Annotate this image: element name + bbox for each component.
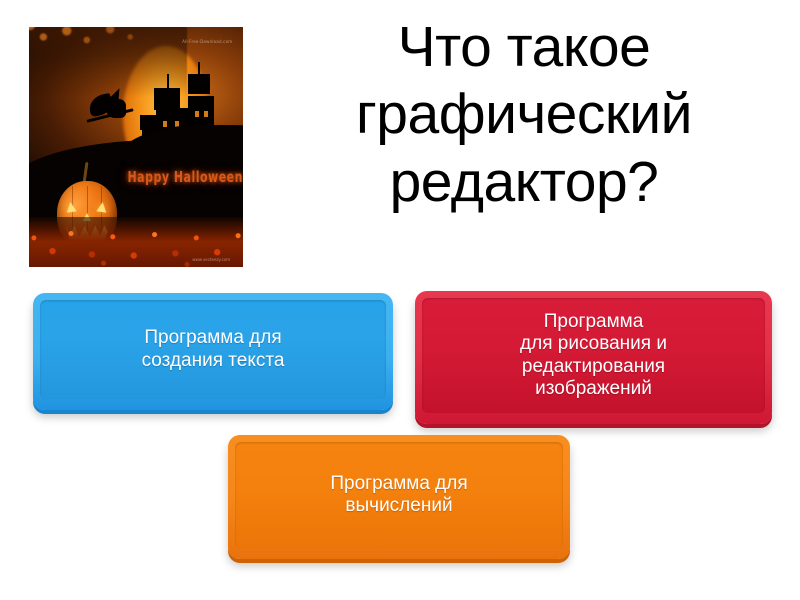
castle-spire	[198, 62, 200, 78]
answer-option-3[interactable]: Программа для вычислений	[228, 435, 570, 559]
pumpkin-eye	[66, 201, 77, 212]
castle-spire	[167, 74, 169, 90]
quiz-slide: Happy Halloween All-Free-Download.com ww…	[0, 0, 800, 600]
question-area: Happy Halloween All-Free-Download.com ww…	[0, 0, 800, 285]
image-watermark-top: All-Free-Download.com	[182, 39, 232, 44]
lit-window	[204, 111, 208, 117]
question-title: Что такое графический редактор?	[256, 14, 792, 269]
question-title-line: редактор?	[390, 149, 659, 216]
lit-window	[163, 121, 167, 127]
flying-witch-silhouette	[85, 85, 141, 133]
answer-option-2-label: Программа для рисования и редактирования…	[422, 298, 765, 413]
answer-option-1[interactable]: Программа для создания текста	[33, 293, 393, 410]
answer-option-2[interactable]: Программа для рисования и редактирования…	[415, 291, 772, 424]
halloween-illustration: Happy Halloween All-Free-Download.com ww…	[29, 27, 243, 267]
question-title-line: графический	[356, 81, 692, 148]
question-title-line: Что такое	[398, 14, 651, 81]
castle-roof	[154, 88, 180, 110]
image-watermark-bottom: www.vecteezy.com	[192, 257, 230, 262]
answer-option-3-label: Программа для вычислений	[235, 442, 563, 548]
answer-option-1-label: Программа для создания текста	[40, 300, 386, 399]
lit-window	[195, 111, 199, 117]
pumpkin-eye	[96, 201, 107, 212]
answers-area: Программа для создания текста Программа …	[0, 285, 800, 600]
question-image: Happy Halloween All-Free-Download.com ww…	[29, 27, 243, 267]
halloween-greeting-text: Happy Halloween	[127, 169, 243, 187]
